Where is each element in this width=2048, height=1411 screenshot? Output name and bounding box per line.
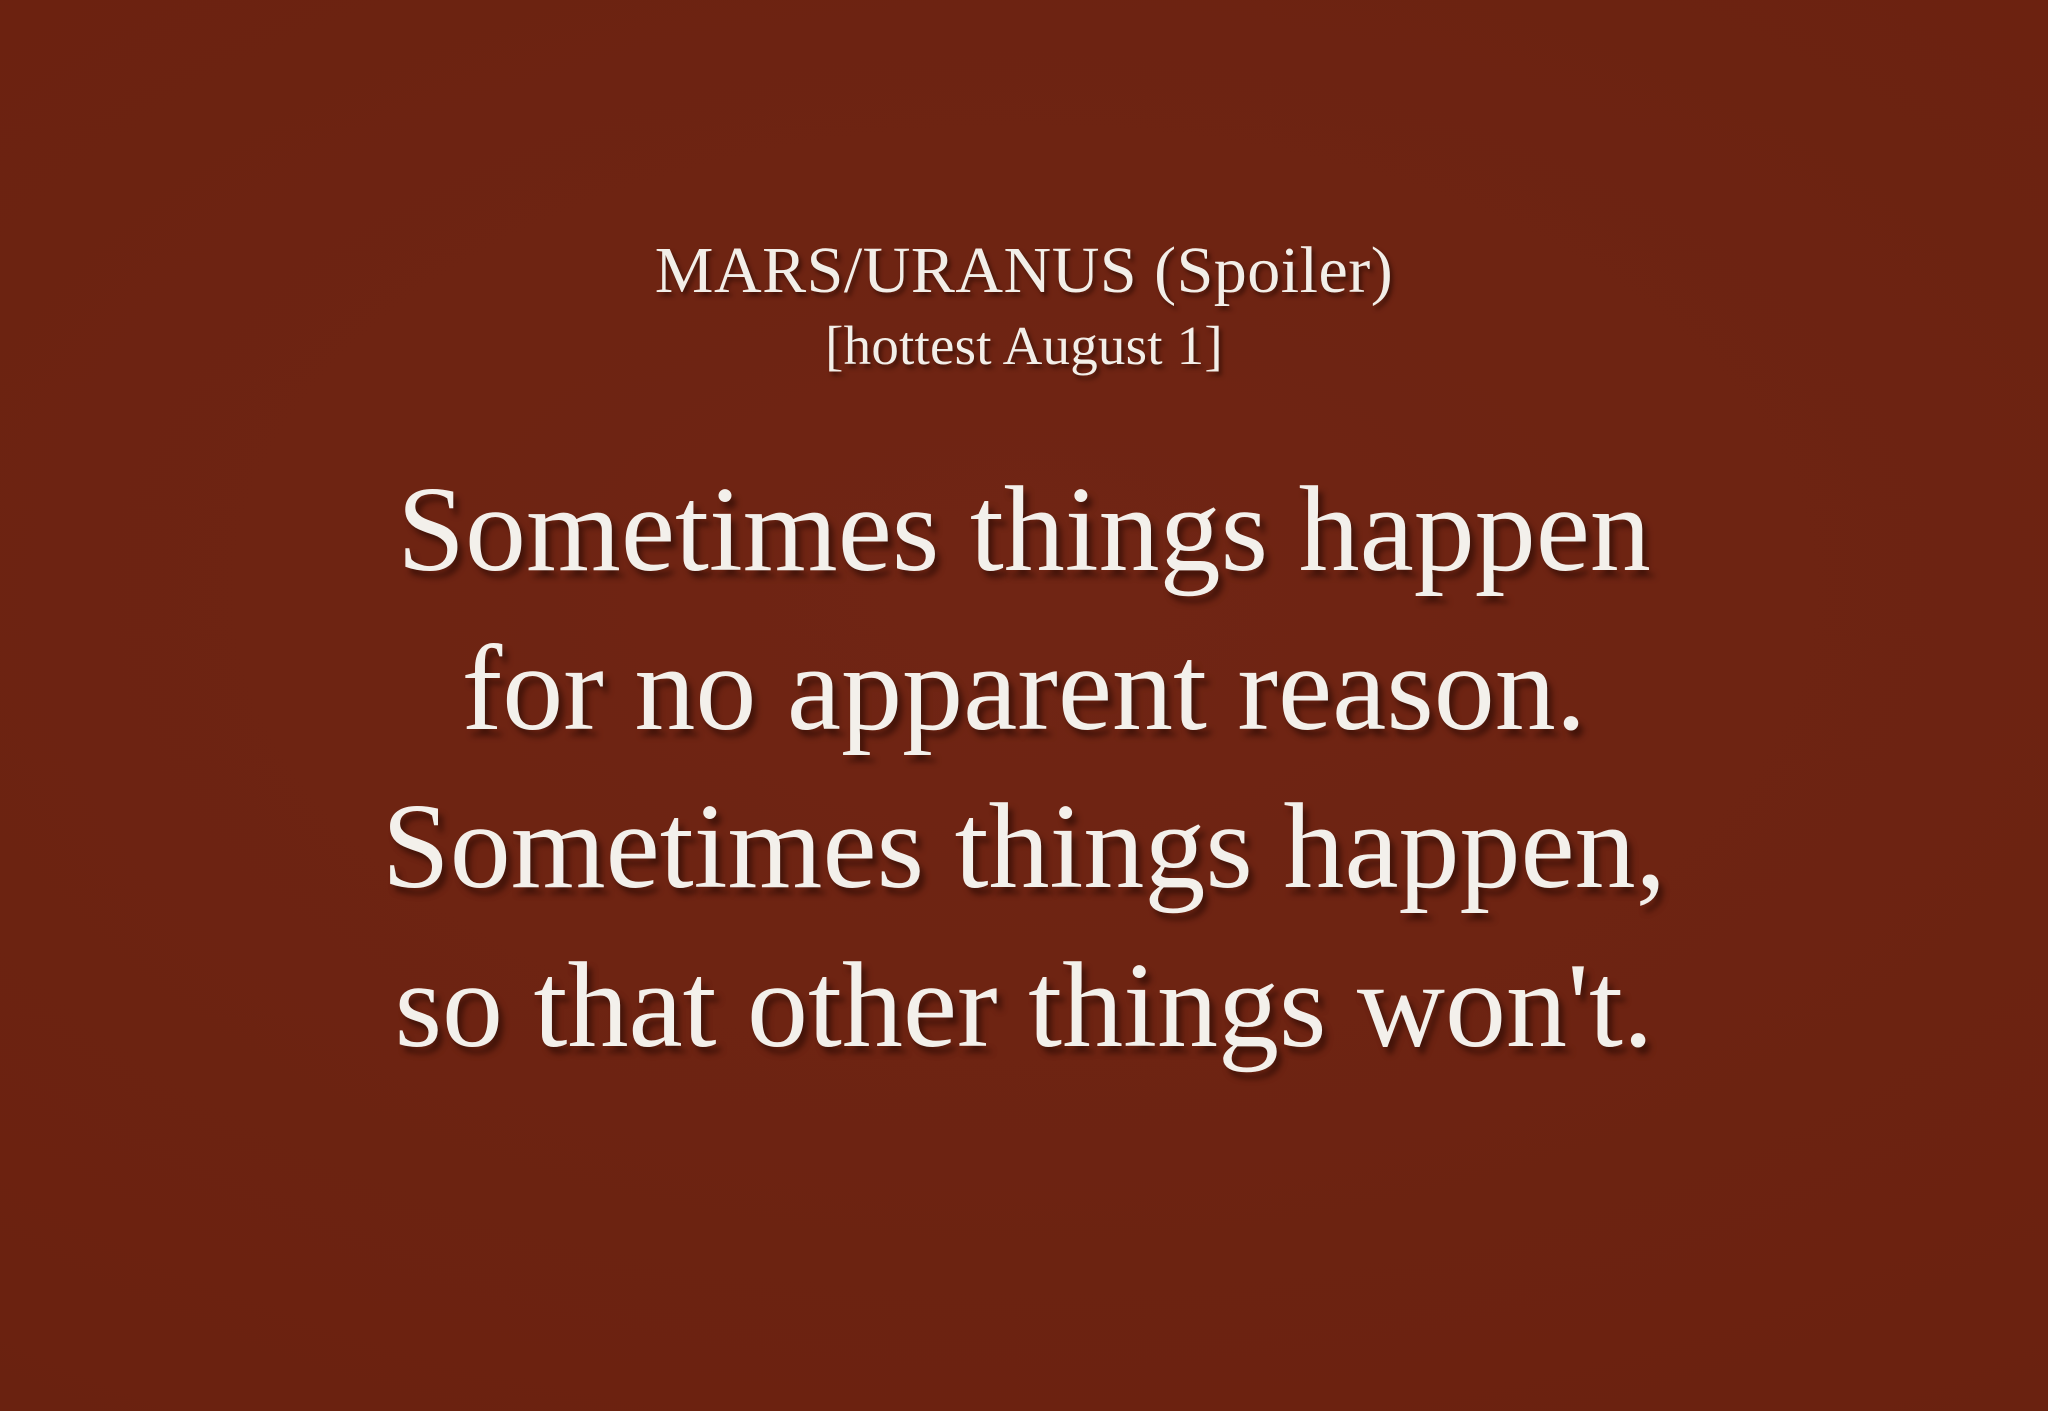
- page-title: MARS/URANUS (Spoiler): [0, 238, 2048, 304]
- page-subtitle: [hottest August 1]: [0, 318, 2048, 373]
- quote-line-3: Sometimes things happen,: [0, 768, 2048, 927]
- quote-block: Sometimes things happen for no apparent …: [0, 451, 2048, 1085]
- header-block: MARS/URANUS (Spoiler) [hottest August 1]: [0, 238, 2048, 373]
- quote-line-1: Sometimes things happen: [0, 451, 2048, 610]
- quote-card: MARS/URANUS (Spoiler) [hottest August 1]…: [0, 0, 2048, 1411]
- quote-line-2: for no apparent reason.: [0, 610, 2048, 769]
- quote-line-4: so that other things won't.: [0, 927, 2048, 1086]
